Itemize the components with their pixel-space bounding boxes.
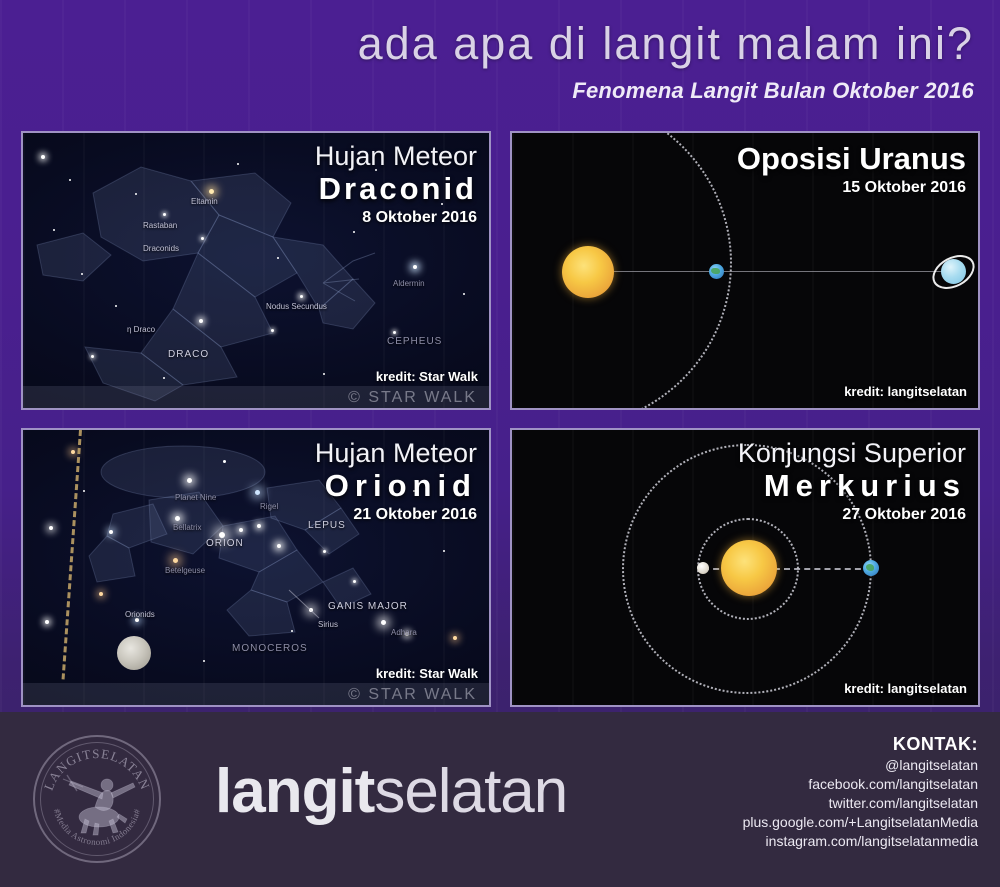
star-label: Sirius <box>318 620 338 629</box>
panel-credit: kredit: langitselatan <box>844 384 967 399</box>
constellation-label: MONOCEROS <box>232 643 308 654</box>
panel-heading: Hujan Meteor Draconid 8 Oktober 2016 <box>315 141 477 228</box>
panel-heading: Konjungsi Superior Merkurius 27 Oktober … <box>738 438 966 525</box>
kontak-handle[interactable]: @langitselatan <box>743 756 978 775</box>
sun-body <box>562 246 614 298</box>
star-label: Adhara <box>391 628 417 637</box>
panel-name: Orionid <box>315 468 477 504</box>
panel-name: Draconid <box>315 171 477 207</box>
page-title: ada apa di langit malam ini? <box>358 18 974 70</box>
wordmark-bold: langit <box>215 757 374 826</box>
earth-body <box>709 264 724 279</box>
star-label: Aldermin <box>393 279 425 288</box>
panel-grid: Eltamin Rastaban Draconids Nodus Secundu… <box>21 131 980 707</box>
svg-text:LANGITSELATAN: LANGITSELATAN <box>41 746 153 792</box>
panel-kicker: Hujan Meteor <box>315 438 477 468</box>
panel-name: Merkurius <box>738 468 966 504</box>
panel-date: 21 Oktober 2016 <box>315 505 477 525</box>
kontak-googleplus[interactable]: plus.google.com/+LangitselatanMedia <box>743 813 978 832</box>
earth-body <box>863 560 879 576</box>
star-label: η Draco <box>127 325 155 334</box>
panel-kicker: Hujan Meteor <box>315 141 477 171</box>
star-label: Draconids <box>143 244 179 253</box>
kontak-block: KONTAK: @langitselatan facebook.com/lang… <box>743 732 978 851</box>
langitselatan-logo[interactable]: LANGITSELATAN #Media Astronomi Indonesia… <box>33 735 161 863</box>
panel-credit: kredit: Star Walk <box>376 369 478 384</box>
panel-draconid[interactable]: Eltamin Rastaban Draconids Nodus Secundu… <box>21 131 491 410</box>
panel-oposisi-uranus[interactable]: Oposisi Uranus 15 Oktober 2016 kredit: l… <box>510 131 980 410</box>
panel-konjungsi-merkurius[interactable]: Konjungsi Superior Merkurius 27 Oktober … <box>510 428 980 707</box>
constellation-label: GANIS MAJOR <box>328 601 408 612</box>
panel-name: Oposisi Uranus <box>737 141 966 177</box>
panel-date: 15 Oktober 2016 <box>737 178 966 198</box>
panel-date: 27 Oktober 2016 <box>738 505 966 525</box>
panel-kicker: Konjungsi Superior <box>738 438 966 468</box>
star-label: Rigel <box>260 502 278 511</box>
constellation-label: CEPHEUS <box>387 336 442 347</box>
star-label: Nodus Secundus <box>266 302 327 311</box>
panel-credit: kredit: Star Walk <box>376 666 478 681</box>
panel-heading: Hujan Meteor Orionid 21 Oktober 2016 <box>315 438 477 525</box>
mercury-body <box>697 562 709 574</box>
wordmark: langitselatan <box>215 754 567 830</box>
footer: LANGITSELATAN #Media Astronomi Indonesia… <box>0 712 1000 887</box>
logo-artwork: LANGITSELATAN #Media Astronomi Indonesia… <box>33 735 161 863</box>
panel-orionid[interactable]: Planet Nine Rigel LEPUS Bellatrix ORION … <box>21 428 491 707</box>
kontak-title: KONTAK: <box>743 732 978 756</box>
kontak-instagram[interactable]: instagram.com/langitselatanmedia <box>743 832 978 851</box>
starwalk-watermark: © STAR WALK <box>348 389 477 407</box>
panel-date: 8 Oktober 2016 <box>315 208 477 228</box>
panel-credit: kredit: langitselatan <box>844 681 967 696</box>
starwalk-watermark: © STAR WALK <box>348 686 477 704</box>
opposition-sight-line <box>612 271 957 272</box>
kontak-facebook[interactable]: facebook.com/langitselatan <box>743 775 978 794</box>
page-subtitle: Fenomena Langit Bulan Oktober 2016 <box>572 78 974 104</box>
star-label: Eltamin <box>191 197 218 206</box>
sun-body <box>721 540 777 596</box>
poster-root: ada apa di langit malam ini? Fenomena La… <box>0 0 1000 887</box>
constellation-label: DRACO <box>168 349 209 360</box>
wordmark-light: selatan <box>374 757 567 826</box>
star-label: Orionids <box>125 610 155 619</box>
star-label: Bellatrix <box>173 523 201 532</box>
star-label: Rastaban <box>143 221 177 230</box>
star-label: Planet Nine <box>175 493 216 502</box>
logo-arc-top: LANGITSELATAN <box>41 746 153 792</box>
panel-heading: Oposisi Uranus 15 Oktober 2016 <box>737 141 966 198</box>
star-label: Betelgeuse <box>165 566 205 575</box>
kontak-twitter[interactable]: twitter.com/langitselatan <box>743 794 978 813</box>
header: ada apa di langit malam ini? Fenomena La… <box>0 0 1000 120</box>
moon-body <box>117 636 151 670</box>
constellation-label: ORION <box>206 538 244 549</box>
